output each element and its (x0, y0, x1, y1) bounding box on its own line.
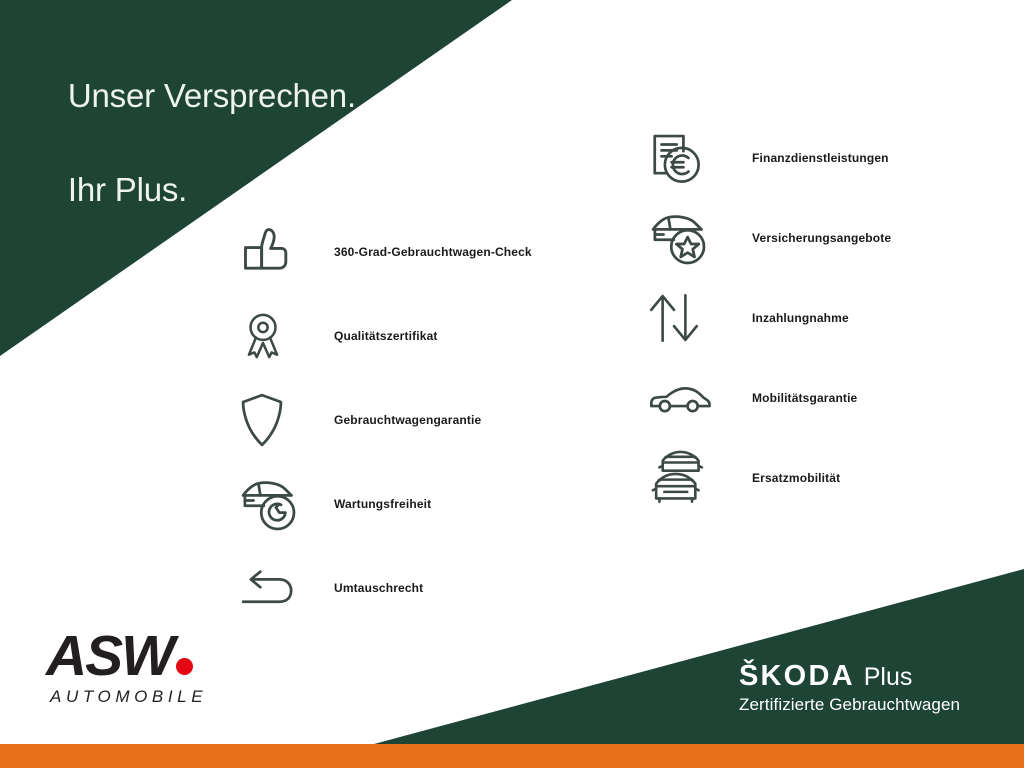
feature-item-trade-in: Inzahlungnahme (648, 278, 1008, 358)
car-side-icon (648, 367, 720, 429)
feature-label: Ersatzmobilität (720, 471, 840, 485)
feature-item-mobility-guarantee: Mobilitätsgarantie (648, 358, 1008, 438)
feature-item-financial-services: Finanzdienstleistungen (648, 118, 1008, 198)
thumbs-up-icon (238, 221, 310, 283)
red-dot-icon (176, 658, 193, 675)
car-wrench-icon (238, 473, 310, 535)
skoda-subtitle: Zertifizierte Gebrauchtwagen (739, 696, 999, 715)
feature-list-right: Finanzdienstleistungen Versicherungsange… (648, 118, 1008, 518)
feature-label: Wartungsfreiheit (310, 497, 431, 511)
skoda-brand-row: ŠKODA Plus (739, 662, 999, 691)
headline-line-1: Unser Versprechen. (68, 77, 356, 114)
feature-item-replacement-mobility: Ersatzmobilität (648, 438, 1008, 518)
feature-label: Umtauschrecht (310, 581, 423, 595)
feature-label: Gebrauchtwagengarantie (310, 413, 481, 427)
feature-list-left: 360-Grad-Gebrauchtwagen-Check Qualitätsz… (238, 210, 638, 630)
feature-item-360-check: 360-Grad-Gebrauchtwagen-Check (238, 210, 638, 294)
feature-label: Qualitätszertifikat (310, 329, 438, 343)
feature-item-quality-certificate: Qualitätszertifikat (238, 294, 638, 378)
feature-item-maintenance: Wartungsfreiheit (238, 462, 638, 546)
feature-label: Mobilitätsgarantie (720, 391, 857, 405)
asw-dealer-logo: ASW AUTOMOBILE (46, 628, 276, 716)
feature-label: 360-Grad-Gebrauchtwagen-Check (310, 245, 532, 259)
feature-item-return-right: Umtauschrecht (238, 546, 638, 630)
car-star-icon (648, 207, 720, 269)
headline-line-2: Ihr Plus. (68, 171, 187, 208)
up-down-arrows-icon (648, 287, 720, 349)
return-arrow-icon (238, 557, 310, 619)
feature-item-warranty: Gebrauchtwagengarantie (238, 378, 638, 462)
skoda-plus-logo: ŠKODA Plus Zertifizierte Gebrauchtwagen (739, 662, 999, 715)
document-euro-icon (648, 127, 720, 189)
feature-label: Versicherungsangebote (720, 231, 891, 245)
asw-subtitle: AUTOMOBILE (50, 687, 276, 707)
two-cars-icon (648, 447, 720, 509)
feature-label: Inzahlungnahme (720, 311, 849, 325)
asw-wordmark: ASW (46, 628, 276, 685)
skoda-plus-label: Plus (864, 665, 913, 690)
asw-wordmark-text: ASW (46, 624, 173, 688)
shield-icon (238, 389, 310, 451)
promo-banner: Unser Versprechen. Ihr Plus. 360-Grad-Ge… (0, 0, 1024, 768)
feature-item-insurance-offers: Versicherungsangebote (648, 198, 1008, 278)
feature-label: Finanzdienstleistungen (720, 151, 889, 165)
orange-footer-bar (0, 744, 1024, 768)
skoda-brand-name: ŠKODA (739, 662, 855, 691)
award-rosette-icon (238, 305, 310, 367)
